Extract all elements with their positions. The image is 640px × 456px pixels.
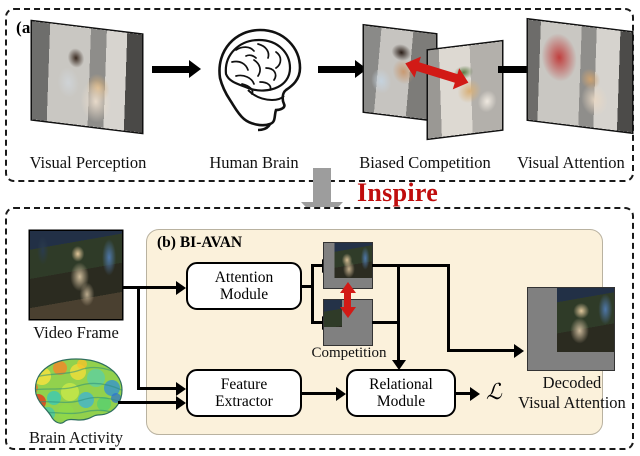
decoded-visual-attention-thumbnail — [528, 288, 614, 370]
line-brain-to-feature — [118, 401, 178, 404]
line-patch1-out — [372, 264, 450, 267]
visual-attention-photo — [528, 20, 632, 133]
label-brain-activity: Brain Activity — [6, 428, 146, 448]
line-bus-to-output — [447, 349, 518, 352]
competition-red-arrow — [344, 292, 351, 308]
line-video-branch-vertical — [137, 286, 140, 390]
feature-extractor-box[interactable]: Feature Extractor — [186, 369, 302, 417]
line-attention-split-vertical — [311, 264, 314, 324]
visual-perception-photo — [32, 21, 142, 133]
panel-b-tag: (b) BI-AVAN — [157, 234, 242, 252]
figure-canvas: (a) Visual Perception Human Brain Biased… — [0, 0, 640, 456]
line-patch2-out — [372, 321, 400, 324]
video-frame-thumbnail — [30, 231, 122, 319]
label-competition: Competition — [303, 345, 395, 362]
line-video-to-attention — [122, 286, 178, 289]
line-bus-vertical-right — [447, 264, 450, 352]
arrowhead-feature-in-video — [176, 382, 186, 396]
brain-activity-thumbnail — [20, 354, 130, 426]
attention-module-line2: Module — [220, 286, 268, 303]
relational-module-box[interactable]: Relational Module — [346, 369, 456, 417]
line-video-branch-horizontal — [137, 387, 178, 390]
label-visual-attention: Visual Attention — [502, 153, 640, 173]
relational-module-line1: Relational — [369, 376, 433, 393]
arrowhead-attention-in — [176, 281, 186, 295]
label-decoded-line2: Visual Attention — [498, 393, 640, 413]
human-brain-icon — [196, 20, 312, 132]
line-feature-to-relational — [302, 392, 338, 395]
relational-module-line2: Module — [377, 393, 425, 410]
label-visual-perception: Visual Perception — [12, 153, 164, 173]
arrowhead-relational-left-in — [336, 387, 346, 401]
arrow-brain-to-competition — [318, 66, 356, 73]
feature-extractor-line2: Extractor — [215, 393, 273, 410]
line-patch-drop-vertical — [397, 264, 400, 363]
inspire-label: Inspire — [357, 178, 438, 208]
arrow-perception-to-brain — [152, 66, 190, 73]
arrowhead-decoded-output — [514, 344, 524, 358]
feature-extractor-line1: Feature — [221, 376, 267, 393]
label-video-frame: Video Frame — [10, 323, 142, 343]
arrowhead-feature-in-brain — [176, 396, 186, 410]
label-biased-competition: Biased Competition — [340, 153, 510, 173]
arrowhead-loss-in — [470, 387, 480, 401]
label-decoded-line1: Decoded — [524, 373, 620, 393]
attention-module-box[interactable]: Attention Module — [186, 262, 302, 310]
attention-module-line1: Attention — [215, 269, 274, 286]
